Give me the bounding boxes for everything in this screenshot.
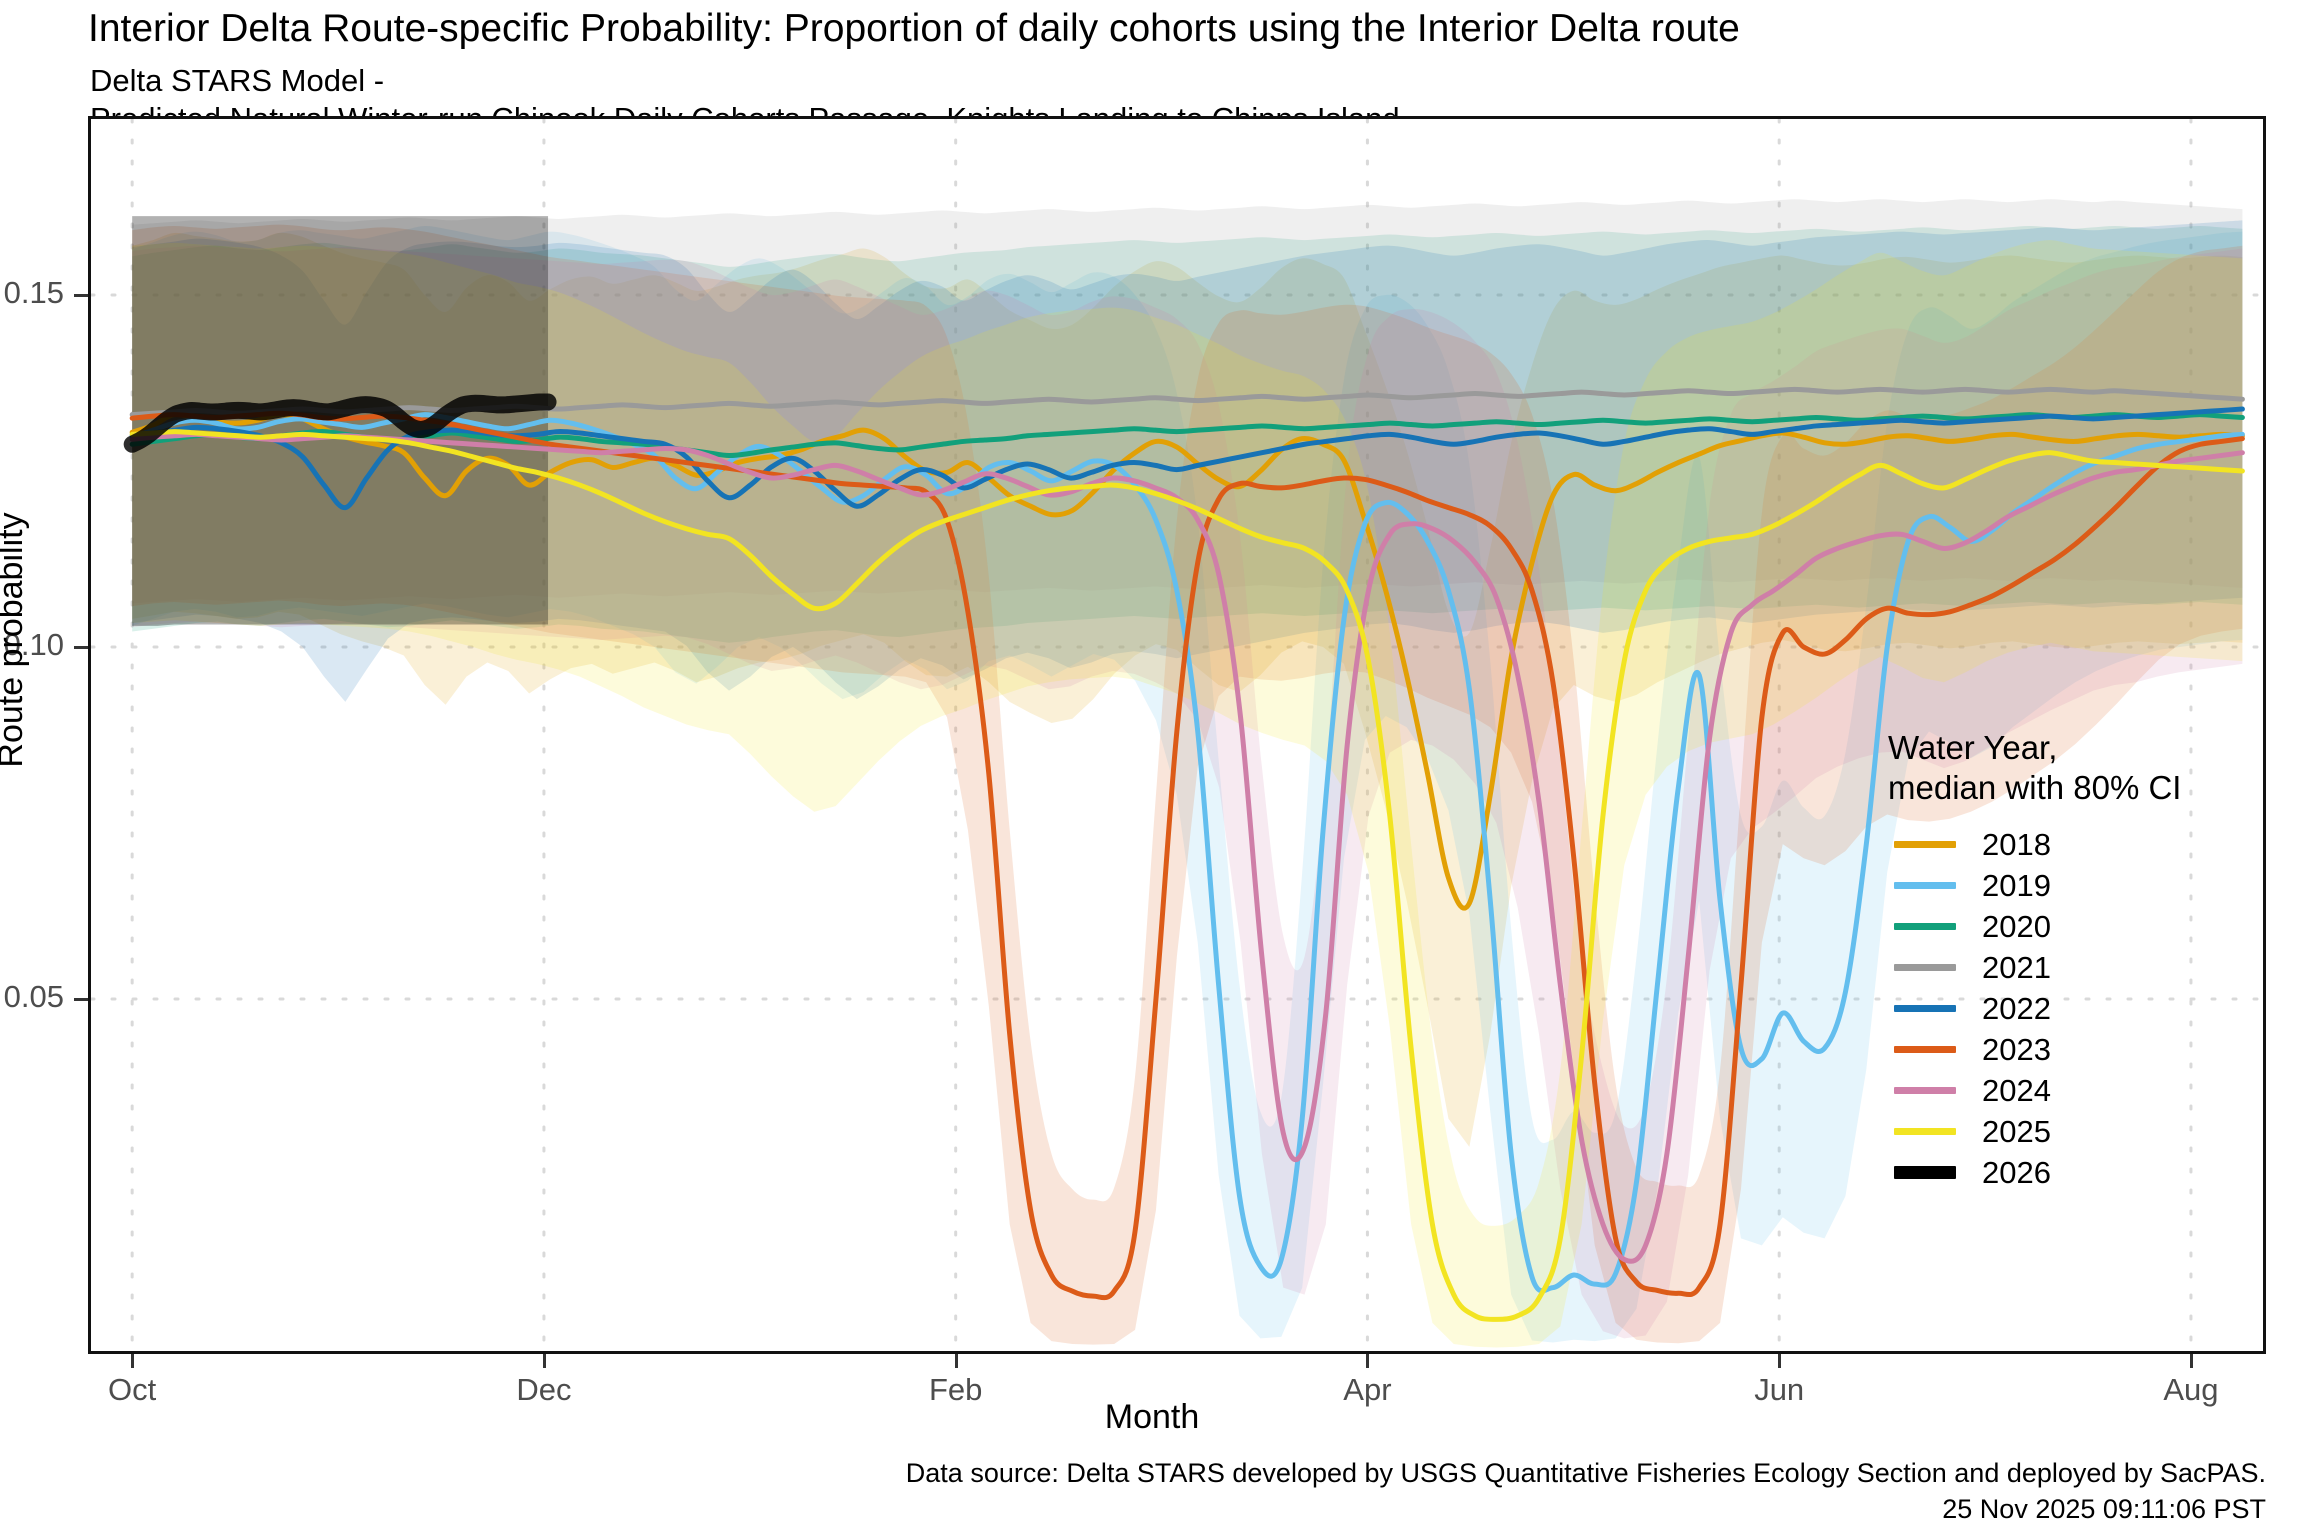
x-axis-label: Month	[0, 1398, 2304, 1437]
x-tick-mark	[543, 1354, 546, 1368]
legend-item-label: 2018	[1982, 827, 2051, 863]
legend-item-label: 2025	[1982, 1114, 2051, 1150]
legend-line-swatch-icon	[1888, 1117, 1962, 1146]
page-title: Interior Delta Route-specific Probabilit…	[88, 6, 1740, 52]
legend-item-2023[interactable]: 2023	[1888, 1029, 2248, 1070]
legend-item-label: 2020	[1982, 909, 2051, 945]
x-tick-mark	[955, 1354, 958, 1368]
legend-item-2022[interactable]: 2022	[1888, 988, 2248, 1029]
legend-item-2018[interactable]: 2018	[1888, 824, 2248, 865]
y-tick-mark	[74, 998, 88, 1001]
y-tick-mark	[74, 294, 88, 297]
legend-item-2021[interactable]: 2021	[1888, 947, 2248, 988]
legend-item-2025[interactable]: 2025	[1888, 1111, 2248, 1152]
legend-title: Water Year, median with 80% CI	[1888, 728, 2248, 808]
legend: Water Year, median with 80% CI 201820192…	[1888, 728, 2248, 1193]
legend-line-swatch-icon	[1888, 953, 1962, 982]
x-tick-mark	[131, 1354, 134, 1368]
x-tick-mark	[1778, 1354, 1781, 1368]
legend-line-swatch-icon	[1888, 994, 1962, 1023]
legend-item-label: 2026	[1982, 1155, 2051, 1191]
data-source-caption: Data source: Delta STARS developed by US…	[906, 1455, 2266, 1527]
legend-item-label: 2022	[1982, 991, 2051, 1027]
legend-item-2019[interactable]: 2019	[1888, 865, 2248, 906]
y-tick-mark	[74, 646, 88, 649]
y-tick-label: 0.05	[0, 979, 64, 1015]
chart-page: Interior Delta Route-specific Probabilit…	[0, 0, 2304, 1536]
legend-item-list: 201820192020202120222023202420252026	[1888, 824, 2248, 1193]
legend-item-label: 2024	[1982, 1073, 2051, 1109]
legend-line-swatch-icon	[1888, 1035, 1962, 1064]
x-tick-mark	[1366, 1354, 1369, 1368]
legend-line-swatch-icon	[1888, 871, 1962, 900]
legend-item-2026[interactable]: 2026	[1888, 1152, 2248, 1193]
y-tick-label: 0.15	[0, 275, 64, 311]
legend-line-swatch-icon	[1888, 1076, 1962, 1105]
legend-item-label: 2023	[1982, 1032, 2051, 1068]
x-tick-mark	[2190, 1354, 2193, 1368]
legend-item-label: 2021	[1982, 950, 2051, 986]
legend-line-swatch-icon	[1888, 830, 1962, 859]
legend-item-2024[interactable]: 2024	[1888, 1070, 2248, 1111]
y-axis-label: Route probability	[0, 430, 31, 850]
legend-item-2020[interactable]: 2020	[1888, 906, 2248, 947]
legend-item-label: 2019	[1982, 868, 2051, 904]
legend-line-swatch-icon	[1888, 1158, 1962, 1187]
legend-line-swatch-icon	[1888, 912, 1962, 941]
